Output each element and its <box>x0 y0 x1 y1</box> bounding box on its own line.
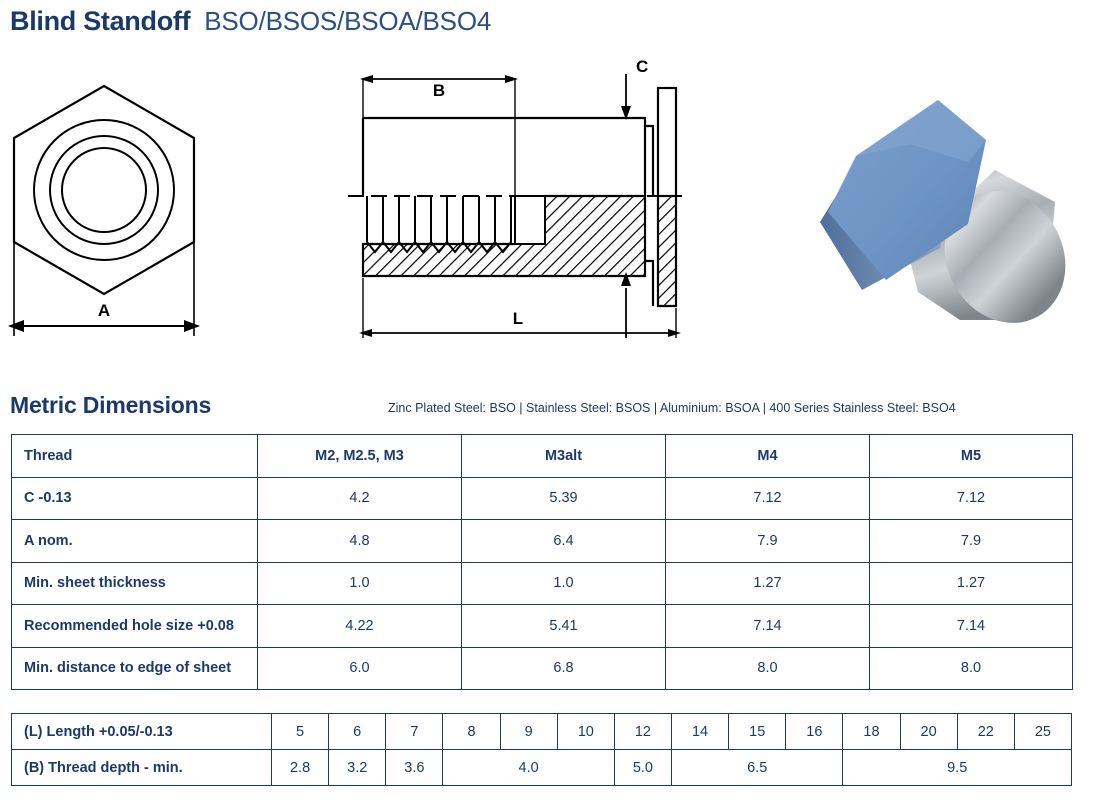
hex-front-view: A <box>4 58 224 348</box>
row-label-recommended-hole-size: Recommended hole size +0.08 <box>12 605 258 648</box>
length-cell: 25 <box>1014 714 1071 750</box>
cell-value: 6.0 <box>258 647 462 690</box>
cell-value: 7.14 <box>666 605 870 648</box>
standoff-3d-photo <box>790 52 1090 352</box>
depth-cell: 3.6 <box>386 750 443 786</box>
length-cell: 6 <box>329 714 386 750</box>
length-cell: 15 <box>729 714 786 750</box>
cell-value: 6.8 <box>462 647 666 690</box>
cell-value: 7.12 <box>870 477 1073 520</box>
cell-value: 5.41 <box>462 605 666 648</box>
row-label-min-sheet-thickness: Min. sheet thickness <box>12 562 258 605</box>
cell-value: 6.4 <box>462 520 666 563</box>
arrowhead-l-left <box>359 329 372 337</box>
flange-step-lower <box>645 261 653 306</box>
flange-plate-lower <box>658 196 676 306</box>
column-header-m4: M4 <box>666 435 870 478</box>
length-cell: 18 <box>843 714 900 750</box>
page-title: Blind Standoff BSO/BSOS/BSOA/BSO4 <box>10 6 491 37</box>
dimension-label-c: C <box>636 57 648 76</box>
material-codes-note: Zinc Plated Steel: BSO | Stainless Steel… <box>388 401 956 415</box>
section-hatch-body <box>363 196 645 276</box>
length-cell: 22 <box>957 714 1014 750</box>
hex-front-view-svg: A <box>4 58 224 348</box>
standoff-photo-svg <box>790 52 1090 352</box>
row-label-length: (L) Length +0.05/-0.13 <box>12 714 272 750</box>
length-cell: 5 <box>272 714 329 750</box>
length-cell: 12 <box>614 714 671 750</box>
row-label-min-distance-to-edge: Min. distance to edge of sheet <box>12 647 258 690</box>
depth-cell: 5.0 <box>614 750 671 786</box>
length-cell: 7 <box>386 714 443 750</box>
length-thread-depth-table: (L) Length +0.05/-0.13 5 6 7 8 9 10 12 1… <box>11 713 1072 786</box>
depth-cell: 6.5 <box>671 750 842 786</box>
arrowhead-b-left <box>360 75 373 83</box>
cell-value: 7.9 <box>870 520 1073 563</box>
row-label-a-nom: A nom. <box>12 520 258 563</box>
length-cell: 14 <box>671 714 728 750</box>
dimension-label-b: B <box>433 81 445 100</box>
length-cell: 20 <box>900 714 957 750</box>
depth-cell: 4.0 <box>443 750 614 786</box>
depth-row: (B) Thread depth - min. 2.8 3.2 3.6 4.0 … <box>12 750 1072 786</box>
column-header-m5: M5 <box>870 435 1073 478</box>
cross-section-view: B <box>340 56 690 346</box>
length-row: (L) Length +0.05/-0.13 5 6 7 8 9 10 12 1… <box>12 714 1072 750</box>
cross-section-svg: B <box>340 56 690 346</box>
table-header-row: Thread M2, M2.5, M3 M3alt M4 M5 <box>12 435 1073 478</box>
depth-cell: 2.8 <box>272 750 329 786</box>
blind-hole-pocket <box>515 196 545 244</box>
circle-outer <box>34 120 174 260</box>
body-outline-upper <box>363 118 645 196</box>
cell-value: 4.8 <box>258 520 462 563</box>
cell-value: 7.9 <box>666 520 870 563</box>
table-row: C -0.13 4.2 5.39 7.12 7.12 <box>12 477 1073 520</box>
column-header-m3alt: M3alt <box>462 435 666 478</box>
arrowhead-b-right <box>505 75 518 83</box>
table-row: Min. distance to edge of sheet 6.0 6.8 8… <box>12 647 1073 690</box>
metric-dimensions-table: Thread M2, M2.5, M3 M3alt M4 M5 C -0.13 … <box>11 434 1073 690</box>
column-header-thread: Thread <box>12 435 258 478</box>
cell-value: 1.27 <box>870 562 1073 605</box>
cell-value: 8.0 <box>870 647 1073 690</box>
table-row: Recommended hole size +0.08 4.22 5.41 7.… <box>12 605 1073 648</box>
length-cell: 9 <box>500 714 557 750</box>
table-row: Min. sheet thickness 1.0 1.0 1.27 1.27 <box>12 562 1073 605</box>
cell-value: 7.12 <box>666 477 870 520</box>
length-cell: 10 <box>557 714 614 750</box>
length-cell: 16 <box>786 714 843 750</box>
arrowhead-a-right <box>184 320 200 332</box>
product-name: Blind Standoff <box>10 6 190 37</box>
section-heading: Metric Dimensions Zinc Plated Steel: BSO… <box>10 392 1084 424</box>
datasheet-page: Blind Standoff BSO/BSOS/BSOA/BSO4 A <box>0 0 1094 799</box>
length-cell: 8 <box>443 714 500 750</box>
cell-value: 4.22 <box>258 605 462 648</box>
cell-value: 1.27 <box>666 562 870 605</box>
cell-value: 4.2 <box>258 477 462 520</box>
cell-value: 1.0 <box>462 562 666 605</box>
cell-value: 1.0 <box>258 562 462 605</box>
cell-value: 5.39 <box>462 477 666 520</box>
flange-plate-upper <box>658 88 676 196</box>
depth-cell: 3.2 <box>329 750 386 786</box>
row-label-c: C -0.13 <box>12 477 258 520</box>
row-label-thread-depth: (B) Thread depth - min. <box>12 750 272 786</box>
cell-value: 8.0 <box>666 647 870 690</box>
cell-value: 7.14 <box>870 605 1073 648</box>
dimension-label-l: L <box>513 309 523 328</box>
arrowhead-a-left <box>8 320 24 332</box>
hexagon-outline <box>14 86 194 294</box>
circle-middle <box>50 136 158 244</box>
product-codes: BSO/BSOS/BSOA/BSO4 <box>204 6 491 37</box>
dimension-label-a: A <box>98 301 110 320</box>
flange-step-upper <box>645 126 653 196</box>
drawings-area: A B <box>0 52 1094 352</box>
column-header-m2: M2, M2.5, M3 <box>258 435 462 478</box>
arrowhead-l-right <box>668 329 681 337</box>
table-row: A nom. 4.8 6.4 7.9 7.9 <box>12 520 1073 563</box>
depth-cell: 9.5 <box>843 750 1072 786</box>
circle-inner <box>62 148 146 232</box>
section-title: Metric Dimensions <box>10 392 211 419</box>
